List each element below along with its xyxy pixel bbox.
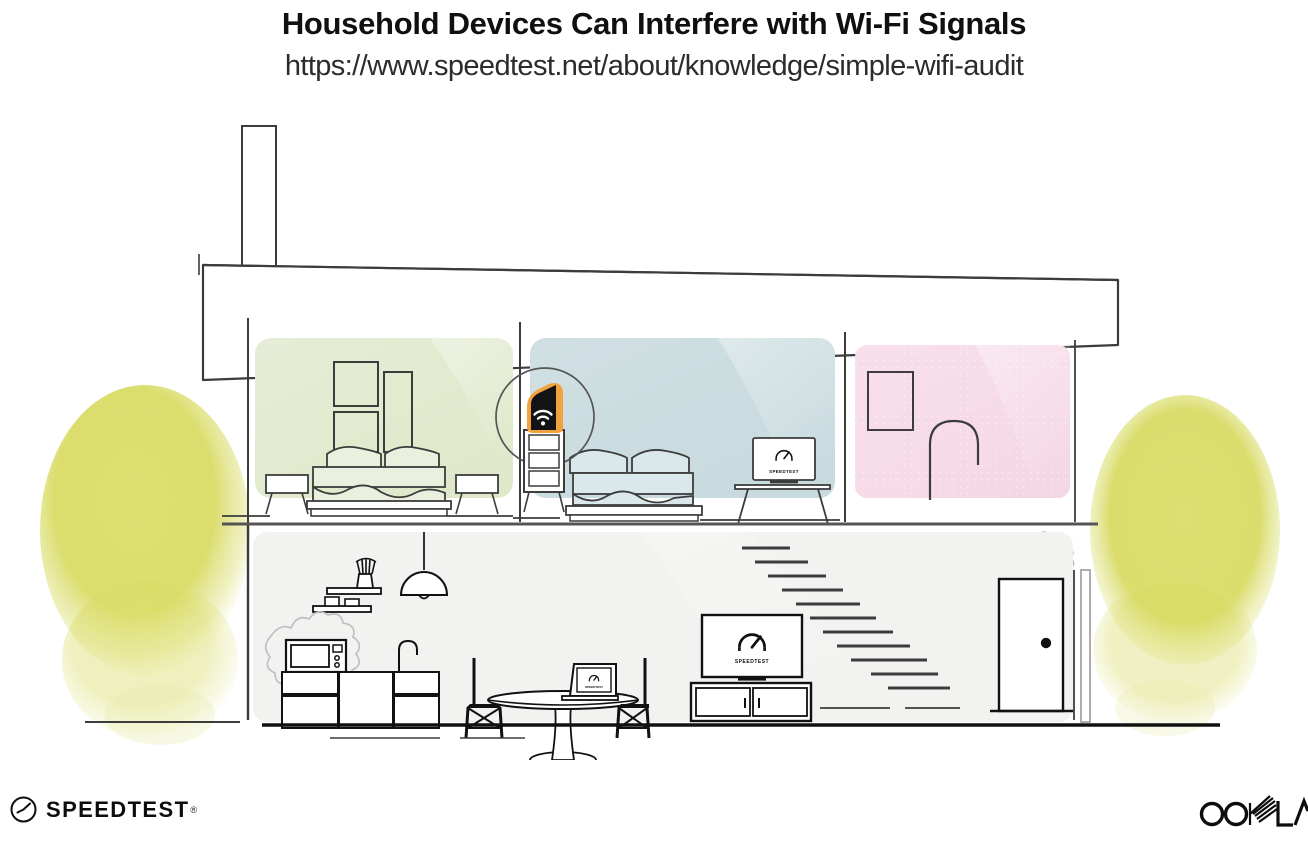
footer: SPEEDTEST ® <box>0 760 1308 861</box>
speedtest-wordmark: SPEEDTEST <box>46 797 189 823</box>
bed-green <box>307 447 451 516</box>
door-knob <box>1041 638 1051 648</box>
bowl-2 <box>345 599 359 606</box>
television[interactable]: SPEEDTEST <box>702 615 802 681</box>
chimney <box>242 126 276 286</box>
wall-shelf-upper <box>327 588 381 594</box>
monitor-screen-label: SPEEDTEST <box>769 469 799 474</box>
room-bedroom-green <box>222 338 513 516</box>
tv-stand <box>738 677 766 681</box>
gauge-icon <box>10 796 37 823</box>
ookla-logo[interactable] <box>1196 793 1308 833</box>
tv-screen-label: SPEEDTEST <box>735 659 769 665</box>
monitor-stand <box>770 480 798 483</box>
exterior-trim <box>1081 570 1090 722</box>
page-title: Household Devices Can Interfere with Wi-… <box>0 6 1308 42</box>
source-url: https://www.speedtest.net/about/knowledg… <box>0 50 1308 83</box>
tree-left <box>40 385 250 745</box>
front-door[interactable] <box>999 579 1063 711</box>
bowl-1 <box>325 597 339 606</box>
tree-right <box>1090 395 1280 736</box>
laptop-screen-label: SPEEDTEST <box>585 685 603 689</box>
media-console <box>691 683 811 721</box>
speedtest-logo[interactable]: SPEEDTEST ® <box>10 796 197 823</box>
monitor[interactable]: SPEEDTEST <box>753 438 815 483</box>
ookla-wordmark-icon <box>1196 793 1308 833</box>
kitchen-counter <box>282 672 439 728</box>
speedtest-trademark: ® <box>190 805 197 815</box>
microwave[interactable] <box>286 640 346 672</box>
house-cutaway-illustration: SPEEDTEST <box>0 100 1308 760</box>
bed-blue <box>566 450 702 521</box>
router-cabinet <box>524 430 564 512</box>
infographic-canvas: Household Devices Can Interfere with Wi-… <box>0 0 1308 861</box>
